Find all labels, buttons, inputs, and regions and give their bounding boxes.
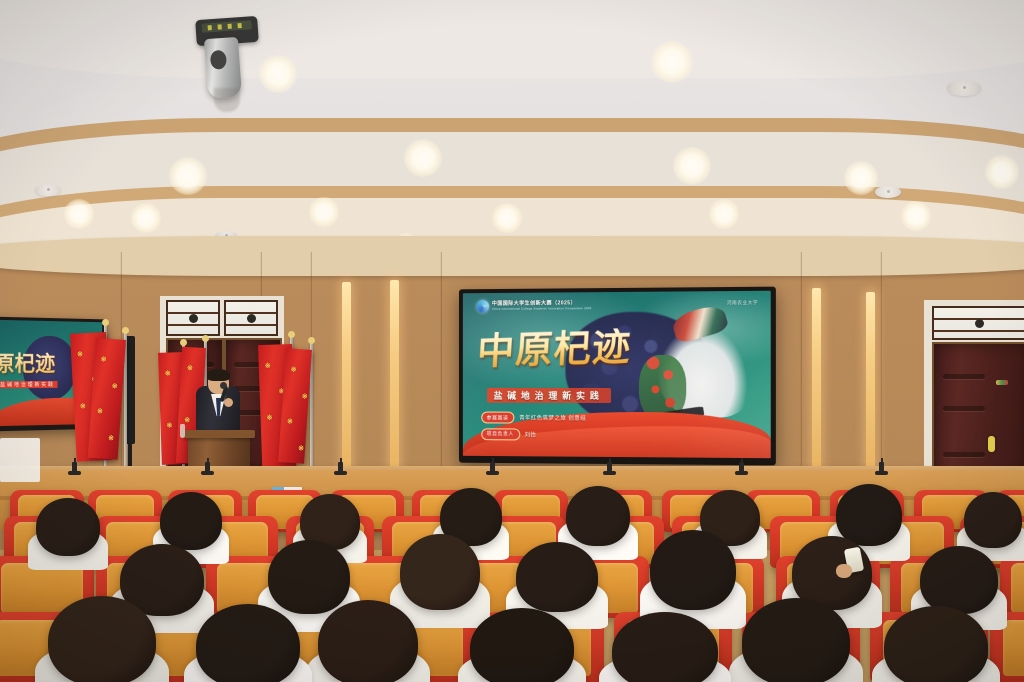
row-tag-leader: 项目负责人 [481, 428, 520, 440]
right-transom [932, 306, 1024, 340]
ceiling-speaker-icon [875, 186, 901, 198]
flag-glyph: ※ [165, 368, 171, 377]
wall-light-strip [866, 292, 875, 468]
seat-pad [1011, 563, 1024, 613]
projector-shadow [214, 88, 240, 112]
downlight-icon [404, 139, 442, 177]
flag-glyph: ※ [77, 349, 83, 358]
audience-head [566, 486, 630, 546]
flag-glyph: ※ [100, 354, 106, 363]
row-tag-track: 参赛赛道 [481, 412, 514, 424]
flag-glyph: ※ [80, 401, 86, 410]
desk-microphone-icon [607, 462, 612, 474]
flag-glyph: ※ [298, 443, 304, 452]
ceiling-band-1b [0, 0, 1024, 78]
wall-light-strip [812, 288, 821, 468]
ceiling [0, 0, 1024, 268]
audience-head [742, 598, 850, 682]
desk-microphone-icon [205, 462, 210, 474]
flag-glyph: ※ [266, 413, 272, 422]
flag-glyph: ※ [184, 415, 190, 424]
flag-glyph: ※ [108, 433, 114, 442]
left-transom-1 [166, 300, 220, 336]
flag-finial [308, 337, 315, 344]
flag-finial [180, 339, 187, 346]
screen-row-track: 参赛赛道 青年红色筑梦之旅 创意组 [481, 412, 586, 424]
main-led-screen[interactable]: 中国国际大学生创新大赛（2025） China International Co… [459, 287, 776, 466]
downlight-icon [259, 55, 297, 93]
flag-glyph: ※ [166, 420, 172, 429]
desk-microphone-icon [879, 462, 884, 474]
audience-head [612, 612, 718, 682]
left-screen-title: 原杞迹 [0, 347, 55, 378]
audience-head [160, 492, 222, 550]
screen-row-leader: 项目负责人 刘怡 [481, 428, 537, 440]
flag-glyph: ※ [265, 361, 271, 370]
downlight-icon [492, 203, 521, 232]
wall-panel-seam [800, 252, 802, 502]
left-transom-2 [224, 300, 278, 336]
downlight-icon [309, 197, 338, 226]
audience-head [318, 600, 418, 682]
audience-head [836, 484, 902, 546]
flag-glyph: ※ [287, 416, 293, 425]
led-screen-content: 中国国际大学生创新大赛（2025） China International Co… [463, 291, 771, 458]
audience-head [48, 596, 156, 682]
desk-microphone-icon [72, 462, 77, 474]
downlight-icon [169, 157, 207, 195]
row-value-track: 青年红色筑梦之旅 创意组 [519, 414, 586, 422]
desk-microphone-icon [338, 462, 343, 474]
audience-head [650, 530, 736, 610]
water-bottle [180, 424, 185, 438]
audience-head [516, 542, 598, 612]
downlight-icon [901, 201, 930, 230]
flag-glyph: ※ [290, 365, 296, 374]
audience-head [36, 498, 100, 556]
flag-finial [202, 335, 209, 342]
downlight-icon [131, 203, 160, 232]
competition-logo-mark [476, 300, 489, 313]
downlight-icon [985, 155, 1019, 189]
presentation-title: 中原杞迹 [477, 328, 633, 370]
presentation-subtitle: 盐碱地治理新实践 [487, 388, 611, 403]
downlight-icon [651, 41, 693, 83]
downlight-icon [709, 199, 738, 228]
audience-head [268, 540, 350, 614]
row-value-leader: 刘怡 [525, 430, 537, 438]
speaker-hair [207, 369, 230, 381]
wall-panel-seam [440, 252, 442, 502]
ceiling-speaker-icon [35, 184, 61, 196]
flag-glyph: ※ [97, 406, 103, 415]
competition-logo-en: China International College Students' In… [492, 306, 592, 311]
desk-microphone-icon [739, 462, 744, 474]
speaker-hand [224, 398, 233, 407]
flag-finial [122, 327, 129, 334]
flag-glyph: ※ [301, 391, 307, 400]
flag-finial [288, 331, 295, 338]
audience-head [470, 608, 574, 682]
left-screen-subtitle: 盐碱地治理新实践 [0, 381, 58, 388]
left-front-desk [0, 438, 40, 482]
flag-finial [102, 319, 109, 326]
audience-head [196, 604, 300, 682]
flag-glyph: ※ [187, 363, 193, 372]
school-tag: 河南农业大学 [727, 300, 758, 306]
downlight-icon [844, 161, 878, 195]
audience-head [920, 546, 998, 614]
wall-top-trim [0, 236, 1024, 276]
audience-head [400, 534, 480, 610]
wall-light-strip [342, 282, 351, 468]
ceiling-speaker-icon [947, 80, 981, 95]
auditorium-scene: 中国国际大学生创新大赛（2025） China International Co… [0, 0, 1024, 682]
competition-logo: 中国国际大学生创新大赛（2025） China International Co… [476, 299, 591, 313]
downlight-icon [64, 199, 93, 228]
flag-glyph: ※ [111, 381, 117, 390]
audience-head [964, 492, 1022, 548]
downlight-icon [673, 147, 711, 185]
audience-head [884, 606, 988, 682]
wall-light-strip [390, 280, 399, 468]
desk-microphone-icon [490, 462, 495, 474]
audience-hand [836, 564, 852, 578]
seat-pad [1003, 620, 1024, 676]
microphone-head [220, 382, 227, 389]
